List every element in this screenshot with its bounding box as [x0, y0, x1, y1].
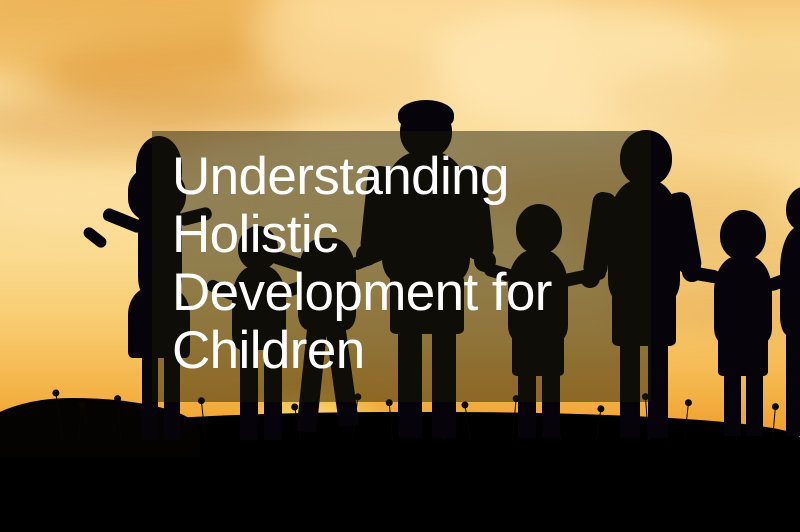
cloud-band — [0, 0, 300, 90]
banner-headline: Understanding Holistic Development for C… — [172, 148, 642, 380]
child-silhouette-8 — [776, 186, 800, 436]
hero-banner: Understanding Holistic Development for C… — [0, 0, 800, 532]
ground-silhouette-base — [0, 446, 800, 532]
cloud-band — [250, 0, 580, 110]
cloud-band — [600, 60, 800, 140]
